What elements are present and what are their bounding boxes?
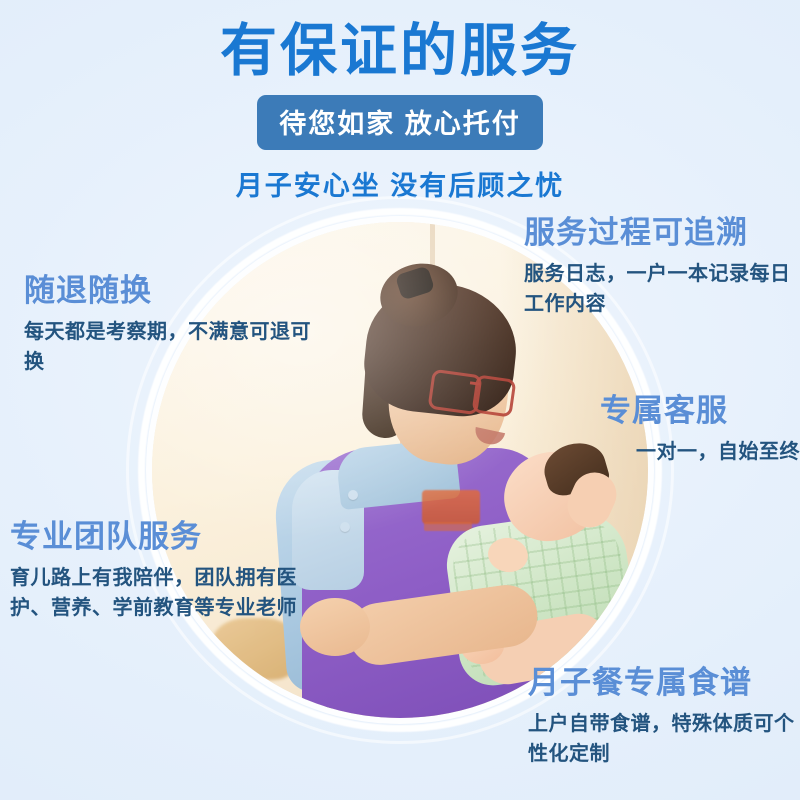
feature-heading: 服务过程可追溯	[524, 214, 796, 253]
feature-body: 一对一，自始至终	[600, 437, 800, 467]
header: 有保证的服务 待您如家 放心托付 月子安心坐 没有后顾之忧	[0, 0, 800, 203]
feature-heading: 专业团队服务	[10, 518, 310, 557]
badge-wrapper: 待您如家 放心托付	[0, 95, 800, 150]
poster-root: 有保证的服务 待您如家 放心托付 月子安心坐 没有后顾之忧	[0, 0, 800, 800]
feature-dedicated-support: 专属客服 一对一，自始至终	[600, 392, 800, 467]
feature-heading: 月子餐专属食谱	[528, 664, 800, 703]
feature-postpartum-menu: 月子餐专属食谱 上户自带食谱，特殊体质可个性化定制	[528, 664, 800, 770]
page-title: 有保证的服务	[0, 0, 800, 82]
feature-body: 每天都是考察期，不满意可退可换	[24, 317, 324, 378]
feature-heading: 专属客服	[600, 392, 800, 431]
feature-professional-team: 专业团队服务 育儿路上有我陪伴，团队拥有医护、营养、学前教育等专业老师	[10, 518, 310, 624]
feature-return-exchange: 随退随换 每天都是考察期，不满意可退可换	[24, 272, 324, 378]
feature-heading: 随退随换	[24, 272, 324, 311]
feature-body: 服务日志，一户一本记录每日工作内容	[524, 259, 796, 320]
feature-body: 上户自带食谱，特殊体质可个性化定制	[528, 709, 800, 770]
feature-traceable-service: 服务过程可追溯 服务日志，一户一本记录每日工作内容	[524, 214, 796, 320]
feature-body: 育儿路上有我陪伴，团队拥有医护、营养、学前教育等专业老师	[10, 563, 310, 624]
tagline-badge: 待您如家 放心托付	[257, 95, 543, 150]
